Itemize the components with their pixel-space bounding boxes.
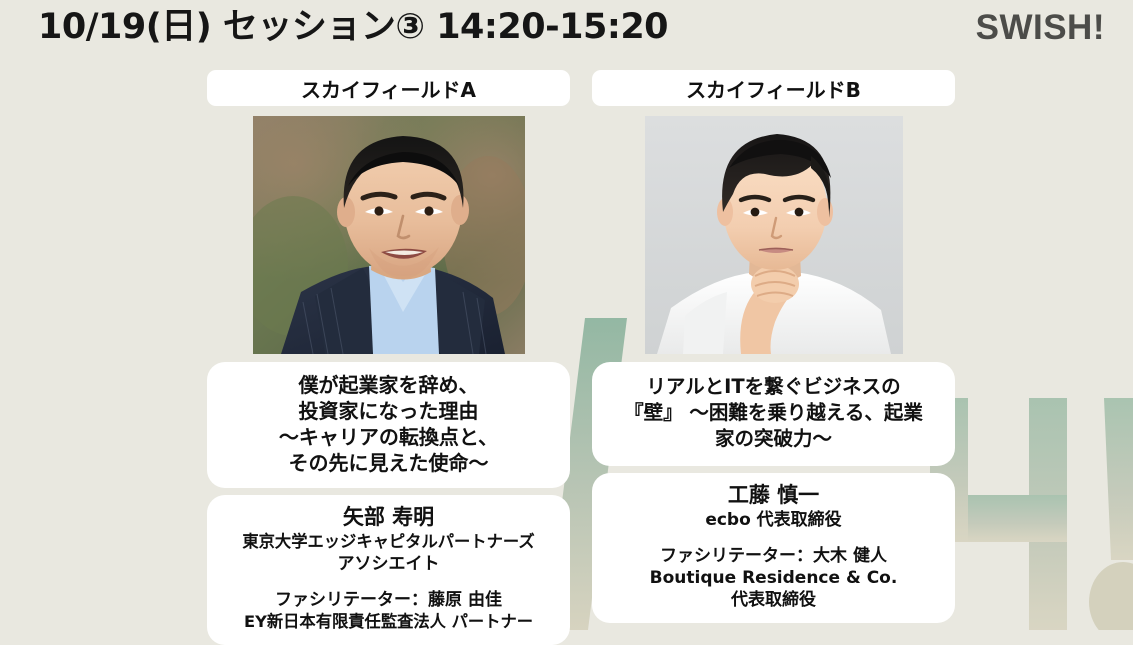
- speaker-photo-a-image: [253, 116, 525, 354]
- session-title-card-a: 僕が起業家を辞め、 投資家になった理由 〜キャリアの転換点と、 その先に見えた使…: [207, 362, 570, 488]
- speaker-photo-a: [253, 116, 525, 354]
- session-column-a: スカイフィールドA: [207, 70, 570, 645]
- session-title-line: 家の突破力〜: [604, 426, 943, 452]
- session-title-card-b: リアルとITを繋ぐビジネスの 『壁』 〜困難を乗り越える、起業 家の突破力〜: [592, 362, 955, 466]
- speaker-card-a: 矢部 寿明 東京大学エッジキャピタルパートナーズ アソシエイト ファシリテーター…: [207, 495, 570, 645]
- session-title-line: リアルとITを繋ぐビジネスの: [604, 374, 943, 400]
- facilitator-line: ファシリテーター：藤原 由佳: [217, 589, 560, 611]
- session-title-line: 僕が起業家を辞め、: [219, 372, 558, 398]
- session-title-line: その先に見えた使命〜: [219, 450, 558, 476]
- session-title-line: 『壁』 〜困難を乗り越える、起業: [604, 400, 943, 426]
- watermark-letter-exclam: [1089, 398, 1133, 630]
- speaker-org-line: アソシエイト: [217, 553, 560, 575]
- room-label-b-text: スカイフィールドB: [686, 74, 861, 103]
- speaker-photo-b-image: [645, 116, 903, 354]
- facilitator-block-a: ファシリテーター：藤原 由佳 EY新日本有限責任監査法人 パートナー: [217, 589, 560, 633]
- page-title: 10/19(日) セッション③ 14:20-15:20: [38, 2, 668, 52]
- session-title-line: 〜キャリアの転換点と、: [219, 424, 558, 450]
- facilitator-block-b: ファシリテーター：大木 健人 Boutique Residence & Co. …: [602, 545, 945, 611]
- room-label-a-text: スカイフィールドA: [301, 74, 476, 103]
- facilitator-line: ファシリテーター：大木 健人: [602, 545, 945, 567]
- room-label-a: スカイフィールドA: [207, 70, 570, 106]
- speaker-name: 工藤 慎一: [602, 481, 945, 509]
- speaker-org-line: ecbo 代表取締役: [602, 509, 945, 531]
- slide-header: 10/19(日) セッション③ 14:20-15:20 SWISH!: [0, 0, 1133, 58]
- facilitator-line: Boutique Residence & Co.: [602, 567, 945, 589]
- session-title-line: 投資家になった理由: [219, 398, 558, 424]
- facilitator-line: 代表取締役: [602, 589, 945, 611]
- speaker-name: 矢部 寿明: [217, 503, 560, 531]
- session-column-b: スカイフィールドB: [592, 70, 955, 623]
- speaker-org-line: 東京大学エッジキャピタルパートナーズ: [217, 531, 560, 553]
- speaker-card-b: 工藤 慎一 ecbo 代表取締役 ファシリテーター：大木 健人 Boutique…: [592, 473, 955, 623]
- speaker-photo-b: [645, 116, 903, 354]
- brand-logo: SWISH!: [976, 4, 1105, 52]
- room-label-b: スカイフィールドB: [592, 70, 955, 106]
